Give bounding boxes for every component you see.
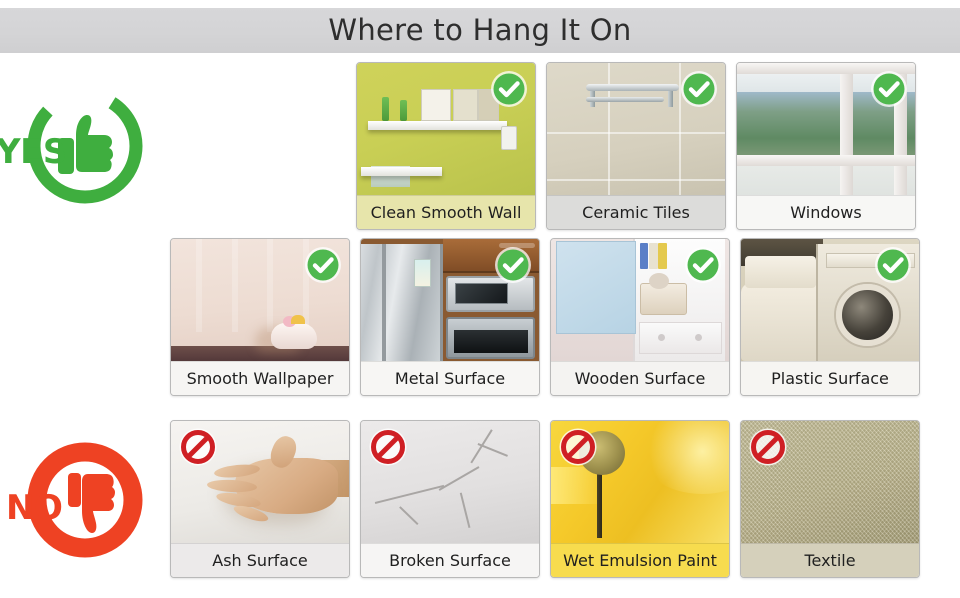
green-check-badge-icon <box>489 69 529 109</box>
green-check-badge-icon <box>683 245 723 285</box>
page-header: Where to Hang It On <box>0 8 960 53</box>
verdict-no-label: NO <box>6 491 62 525</box>
surface-card-smooth-wallpaper[interactable]: Smooth Wallpaper <box>170 238 350 396</box>
card-caption: Metal Surface <box>361 361 539 395</box>
surface-card-plastic-surface[interactable]: Plastic Surface <box>740 238 920 396</box>
surface-card-ceramic-tiles[interactable]: Ceramic Tiles <box>546 62 726 230</box>
card-caption: Ceramic Tiles <box>547 195 725 229</box>
surface-card-wet-emulsion-paint[interactable]: Wet Emulsion Paint <box>550 420 730 578</box>
green-check-badge-icon <box>679 69 719 109</box>
surface-card-broken-surface[interactable]: Broken Surface <box>360 420 540 578</box>
card-photo <box>547 63 725 195</box>
green-check-badge-icon <box>303 245 343 285</box>
card-caption: Clean Smooth Wall <box>357 195 535 229</box>
card-caption: Wooden Surface <box>551 361 729 395</box>
card-photo <box>551 239 729 361</box>
surface-card-metal-surface[interactable]: Metal Surface <box>360 238 540 396</box>
card-caption: Windows <box>737 195 915 229</box>
card-photo <box>357 63 535 195</box>
card-caption: Ash Surface <box>171 543 349 577</box>
green-check-badge-icon <box>493 245 533 285</box>
card-photo <box>741 239 919 361</box>
card-photo <box>741 421 919 543</box>
card-photo <box>361 239 539 361</box>
red-prohibition-badge-icon <box>748 427 788 467</box>
verdict-yes-label: YES <box>0 135 67 169</box>
surface-row-2: Smooth Wallpaper Metal Surface <box>170 238 920 396</box>
green-check-badge-icon <box>873 245 913 285</box>
card-photo <box>551 421 729 543</box>
card-photo <box>171 239 349 361</box>
verdict-no: NO <box>0 420 170 580</box>
card-caption: Smooth Wallpaper <box>171 361 349 395</box>
verdict-yes: YES <box>0 62 170 230</box>
surface-card-ash-surface[interactable]: Ash Surface <box>170 420 350 578</box>
surface-row-3: Ash Surface Broken Surface <box>170 420 920 578</box>
card-photo <box>361 421 539 543</box>
red-prohibition-badge-icon <box>178 427 218 467</box>
surface-card-clean-smooth-wall[interactable]: Clean Smooth Wall <box>356 62 536 230</box>
surface-row-1: Clean Smooth Wall Ceramic Tiles <box>356 62 916 230</box>
thumbs-up-circle-icon: YES <box>24 85 146 207</box>
card-photo <box>171 421 349 543</box>
card-caption: Textile <box>741 543 919 577</box>
red-prohibition-badge-icon <box>558 427 598 467</box>
card-caption: Broken Surface <box>361 543 539 577</box>
card-caption: Plastic Surface <box>741 361 919 395</box>
red-prohibition-badge-icon <box>368 427 408 467</box>
page-title: Where to Hang It On <box>328 16 631 45</box>
surface-card-windows[interactable]: Windows <box>736 62 916 230</box>
thumbs-down-circle-icon: NO <box>24 439 146 561</box>
surface-card-wooden-surface[interactable]: Wooden Surface <box>550 238 730 396</box>
green-check-badge-icon <box>869 69 909 109</box>
surface-card-textile[interactable]: Textile <box>740 420 920 578</box>
card-photo <box>737 63 915 195</box>
card-caption: Wet Emulsion Paint <box>551 543 729 577</box>
